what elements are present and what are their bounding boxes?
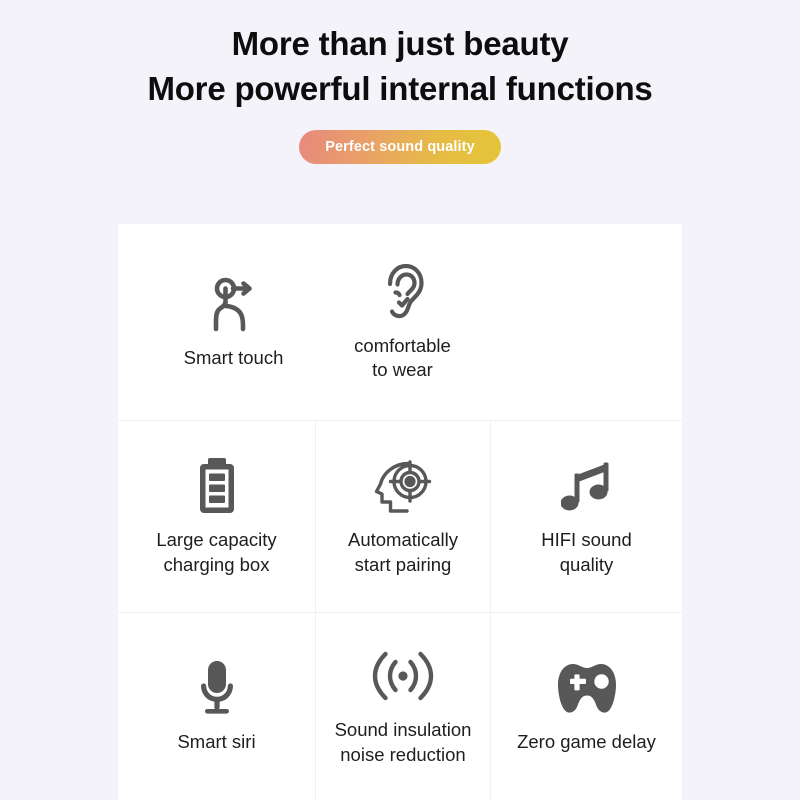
feature-smart-touch[interactable]: Smart touch bbox=[118, 224, 315, 420]
feature-row-1: Smart touch comfortable to wea bbox=[118, 224, 682, 420]
feature-label-line2: quality bbox=[560, 554, 613, 575]
feature-large-capacity-charging-box[interactable]: Large capacity charging box bbox=[118, 421, 315, 612]
feature-label-line2: noise reduction bbox=[340, 744, 465, 765]
feature-label: Smart siri bbox=[177, 730, 255, 754]
feature-label-line1: HIFI sound bbox=[541, 529, 632, 550]
feature-comfortable-to-wear[interactable]: comfortable to wear bbox=[315, 224, 490, 420]
promo-page: More than just beauty More powerful inte… bbox=[0, 0, 800, 800]
feature-label: Sound insulation noise reduction bbox=[335, 718, 472, 767]
music-note-icon bbox=[561, 456, 613, 516]
wireless-signal-icon bbox=[372, 646, 434, 706]
feature-label-line1: Sound insulation bbox=[335, 719, 472, 740]
feature-label-line1: Automatically bbox=[348, 529, 458, 550]
page-title-line1: More than just beauty bbox=[0, 22, 800, 67]
feature-row-3: Smart siri Sound insulation bbox=[118, 612, 682, 800]
battery-icon bbox=[197, 456, 237, 516]
gamepad-icon bbox=[557, 658, 617, 718]
head-pairing-icon bbox=[374, 456, 432, 516]
badge-row: Perfect sound quality bbox=[0, 130, 800, 164]
feature-label-line1: Large capacity bbox=[156, 529, 276, 550]
ear-icon bbox=[381, 262, 425, 322]
feature-label: Zero game delay bbox=[517, 730, 656, 754]
microphone-icon bbox=[195, 658, 239, 718]
feature-automatically-start-pairing[interactable]: Automatically start pairing bbox=[315, 421, 490, 612]
feature-row1-spacer bbox=[490, 224, 682, 420]
feature-label: Automatically start pairing bbox=[348, 528, 458, 577]
feature-card: Smart touch comfortable to wea bbox=[118, 224, 682, 800]
feature-label-line2: start pairing bbox=[355, 554, 452, 575]
feature-smart-siri[interactable]: Smart siri bbox=[118, 613, 315, 800]
page-title-line2: More powerful internal functions bbox=[0, 67, 800, 112]
status-badge: Perfect sound quality bbox=[299, 130, 501, 164]
feature-zero-game-delay[interactable]: Zero game delay bbox=[490, 613, 682, 800]
headings-block: More than just beauty More powerful inte… bbox=[0, 0, 800, 112]
feature-label: HIFI sound quality bbox=[541, 528, 632, 577]
feature-label: Smart touch bbox=[184, 346, 284, 370]
feature-label-line2: to wear bbox=[372, 359, 433, 380]
feature-label-line1: comfortable bbox=[354, 335, 451, 356]
feature-label: Large capacity charging box bbox=[156, 528, 276, 577]
feature-row-2: Large capacity charging box bbox=[118, 420, 682, 612]
feature-label: comfortable to wear bbox=[354, 334, 451, 383]
feature-label-line2: charging box bbox=[164, 554, 270, 575]
feature-hifi-sound-quality[interactable]: HIFI sound quality bbox=[490, 421, 682, 612]
swipe-gesture-icon bbox=[207, 274, 261, 334]
feature-sound-insulation[interactable]: Sound insulation noise reduction bbox=[315, 613, 490, 800]
